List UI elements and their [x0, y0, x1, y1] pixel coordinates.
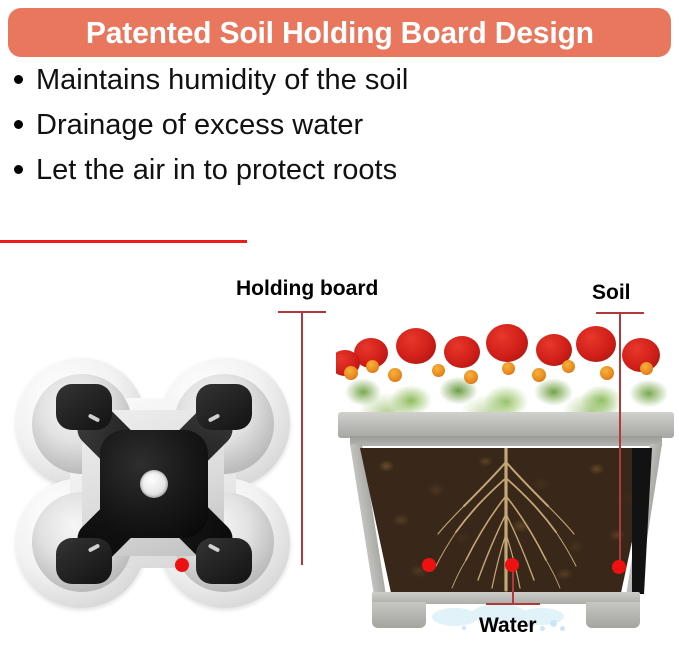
orange-flower: [464, 370, 478, 384]
orange-flower: [640, 362, 653, 375]
planter-rim: [338, 412, 674, 438]
board-pad-bottom-right: [196, 538, 252, 584]
soil-region: [360, 448, 652, 598]
page-title: Patented Soil Holding Board Design: [86, 17, 594, 48]
list-item-label: Let the air in to protect roots: [36, 156, 397, 185]
red-flower: [444, 336, 480, 368]
marker-dot-soil: [612, 560, 626, 574]
leader-connector-holding-board: [0, 240, 247, 243]
header-banner: Patented Soil Holding Board Design: [8, 8, 671, 57]
board-pad-top-left: [56, 384, 112, 430]
board-pad-top-right: [196, 384, 252, 430]
red-flower: [396, 328, 436, 364]
holding-board-part: [60, 390, 248, 578]
marker-dot-holding-board-right: [422, 558, 436, 572]
product-diagram: Holding board Soil Water: [0, 240, 679, 647]
water-droplet: [550, 620, 557, 627]
orange-flower: [562, 360, 575, 373]
callout-label-soil: Soil: [592, 282, 631, 303]
feature-list: Maintains humidity of the soil Drainage …: [14, 66, 614, 201]
planter-rim-shadow: [350, 436, 662, 446]
orange-flower: [600, 366, 614, 380]
bullet-icon: [14, 165, 23, 174]
flower-bed: [336, 316, 676, 420]
orange-flower: [432, 364, 445, 377]
water-pool: [432, 608, 478, 626]
planter-foot-left: [372, 602, 426, 628]
water-droplet: [462, 626, 466, 630]
red-flower: [486, 324, 528, 362]
water-droplet: [560, 626, 565, 631]
list-item: Drainage of excess water: [14, 111, 614, 156]
orange-flower: [388, 368, 402, 382]
callout-label-holding-board: Holding board: [236, 278, 378, 299]
leader-line-holding-board: [301, 311, 303, 565]
orange-flower: [366, 360, 379, 373]
planter-foot-right: [586, 602, 640, 628]
orange-flower: [532, 368, 546, 382]
marker-dot-holding-board-left: [175, 558, 189, 572]
infographic-page: Patented Soil Holding Board Design Maint…: [0, 0, 679, 647]
list-item-label: Drainage of excess water: [36, 111, 363, 140]
bullet-icon: [14, 120, 23, 129]
bullet-icon: [14, 75, 23, 84]
soil-holding-board-top-view: [8, 352, 300, 614]
board-pad-bottom-left: [56, 538, 112, 584]
water-droplet: [540, 626, 545, 631]
leader-line-soil: [619, 312, 621, 567]
drain-hole-icon: [140, 470, 168, 498]
list-item: Maintains humidity of the soil: [14, 66, 614, 111]
list-item-label: Maintains humidity of the soil: [36, 66, 408, 95]
list-item: Let the air in to protect roots: [14, 156, 614, 201]
root-system: [360, 448, 652, 598]
orange-flower: [344, 366, 358, 380]
red-flower: [576, 326, 616, 362]
callout-label-water: Water: [479, 615, 537, 636]
orange-flower: [502, 362, 515, 375]
marker-dot-water: [505, 558, 519, 572]
